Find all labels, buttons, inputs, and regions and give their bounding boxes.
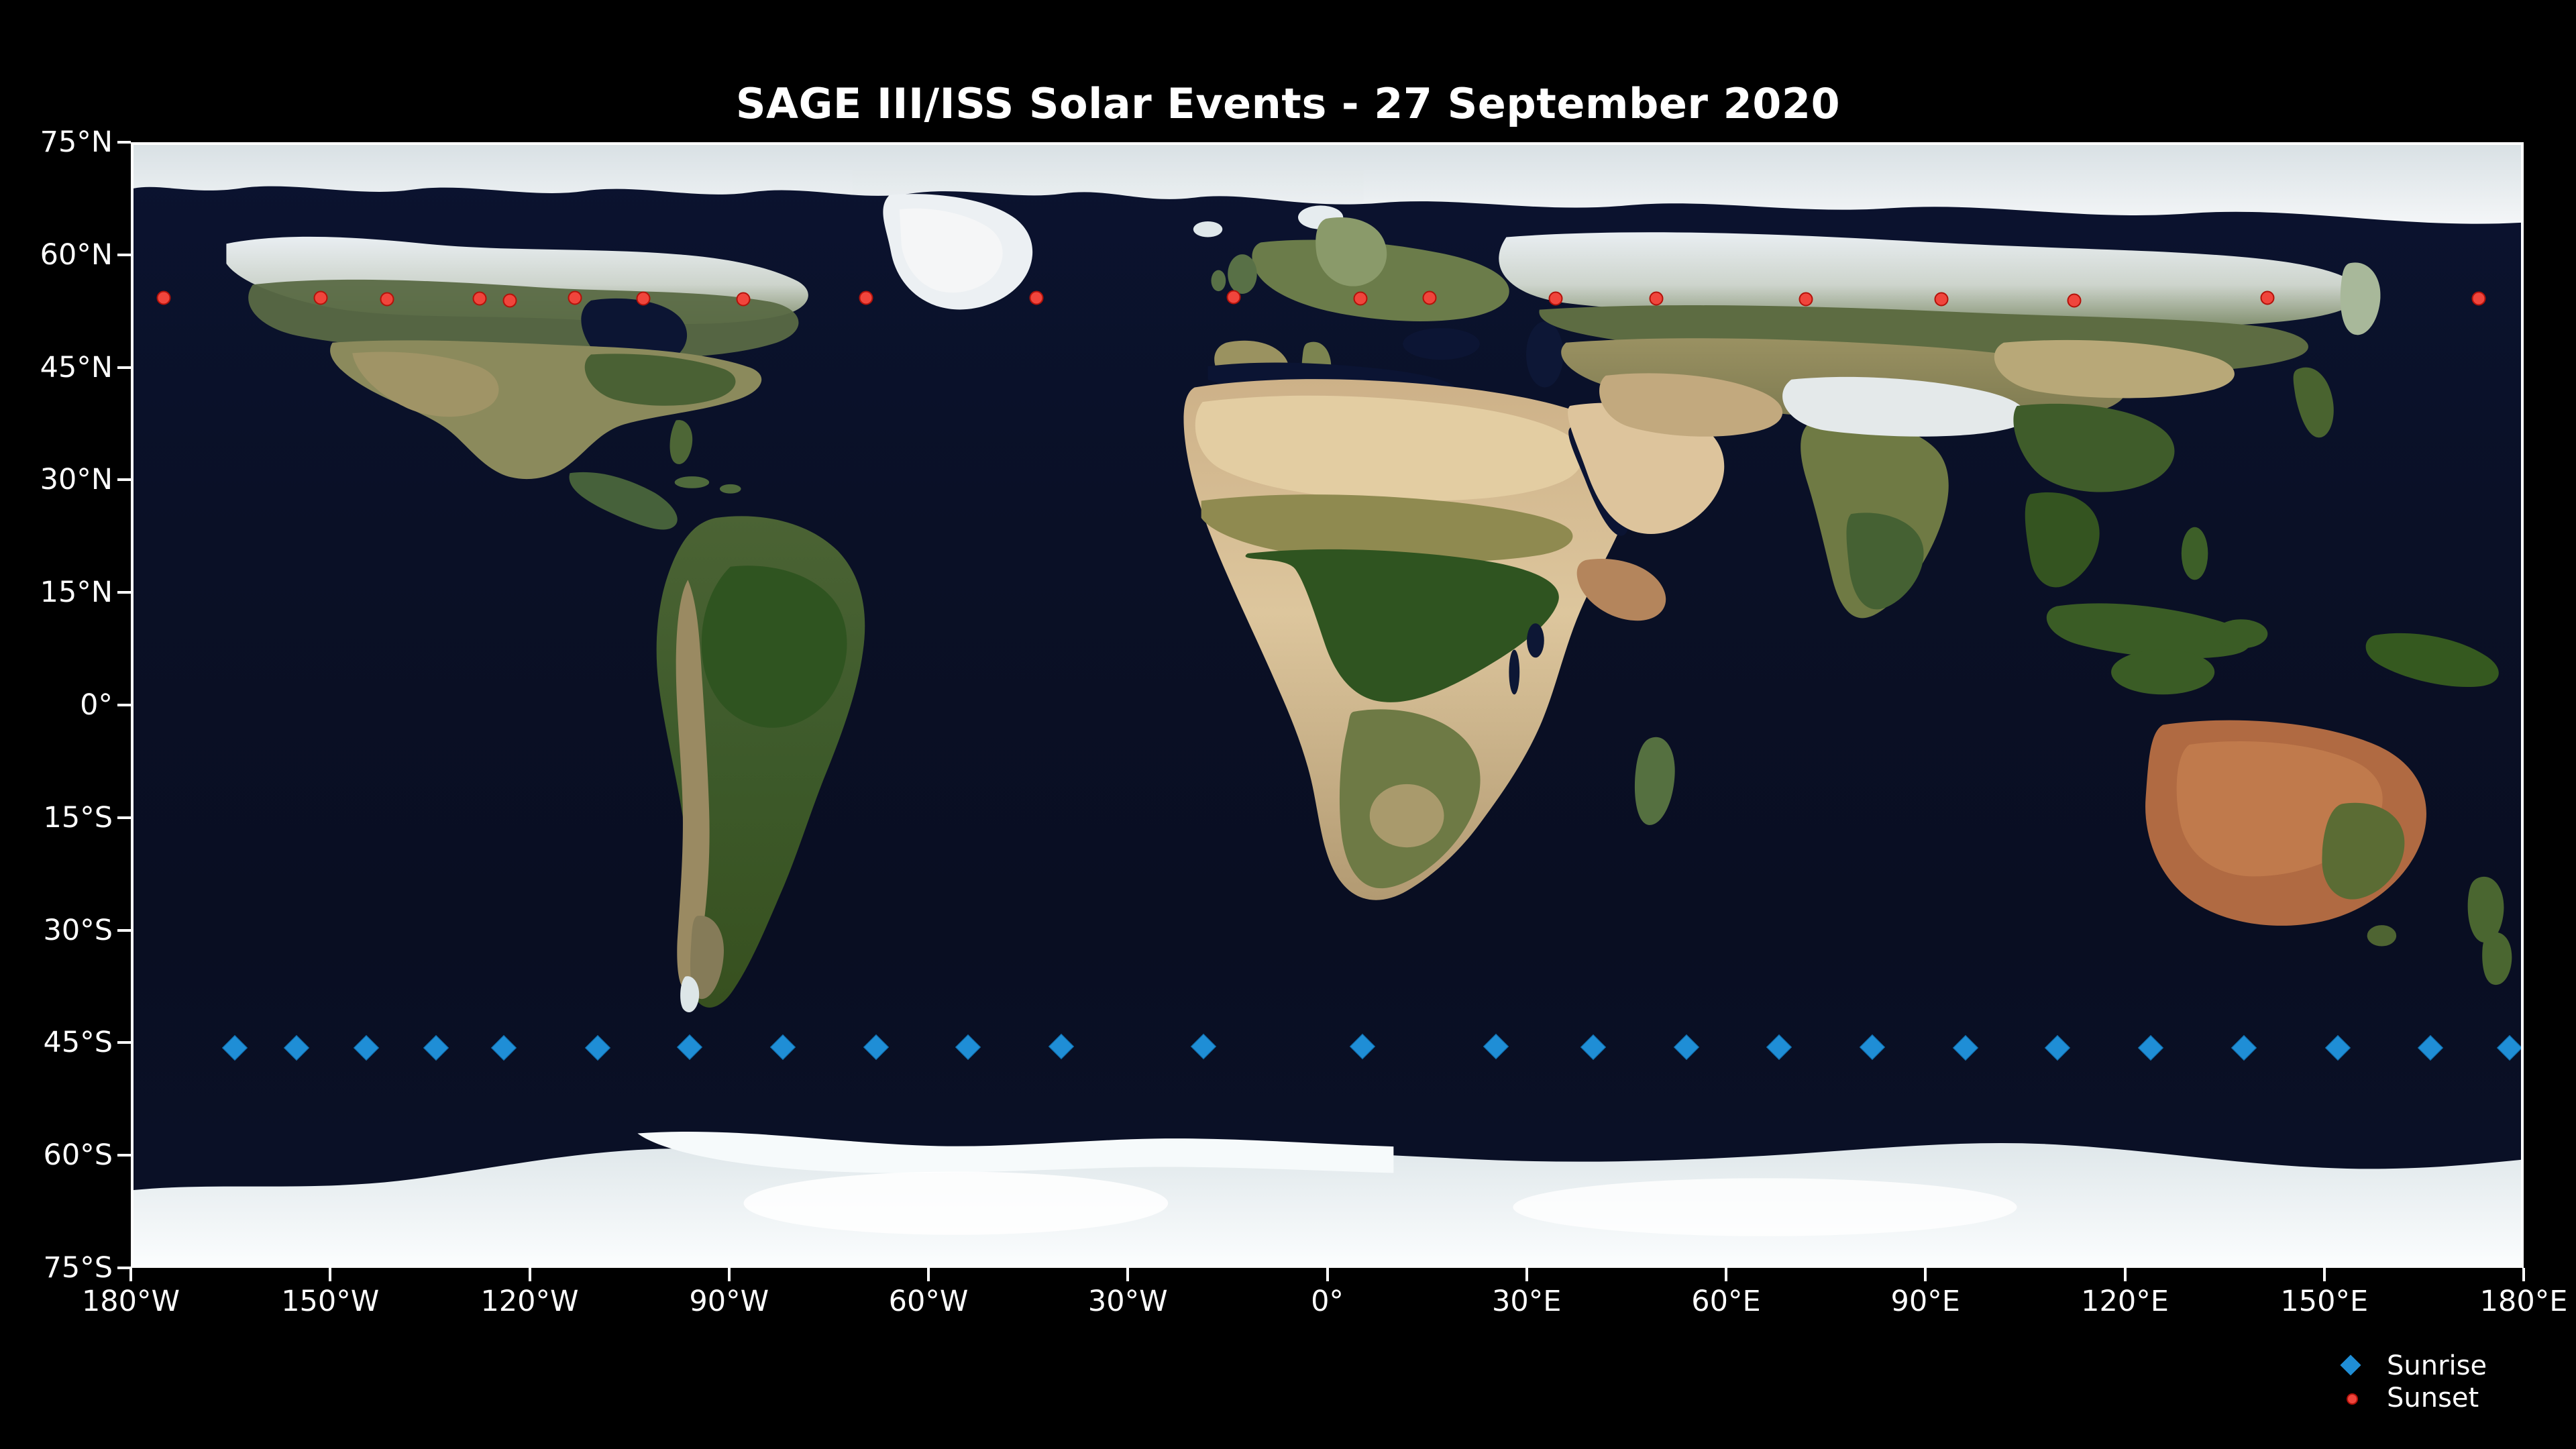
map-legend: Sunrise Sunset xyxy=(2341,1350,2563,1414)
latitude-tick-label: 30°S xyxy=(43,914,113,947)
latitude-tick-mark xyxy=(117,816,131,819)
longitude-tick-mark xyxy=(529,1268,531,1281)
legend-item-sunrise[interactable]: Sunrise xyxy=(2341,1350,2563,1382)
longitude-tick-label: 60°E xyxy=(1691,1285,1760,1318)
legend-item-sunset[interactable]: Sunset xyxy=(2341,1382,2563,1414)
sunrise-marker-icon xyxy=(2341,1356,2361,1376)
latitude-tick-label: 15°S xyxy=(43,801,113,835)
longitude-tick-label: 180°E xyxy=(2480,1285,2568,1318)
page-title: SAGE III/ISS Solar Events - 27 September… xyxy=(0,79,2576,128)
latitude-tick-label: 45°N xyxy=(40,351,113,384)
longitude-tick-label: 30°E xyxy=(1492,1285,1561,1318)
longitude-tick-mark xyxy=(1126,1268,1129,1281)
longitude-tick-mark xyxy=(329,1268,331,1281)
longitude-tick-mark xyxy=(728,1268,731,1281)
longitude-tick-label: 60°W xyxy=(889,1285,969,1318)
legend-label-sunset: Sunset xyxy=(2387,1383,2479,1413)
blue-marble-basemap-icon xyxy=(133,145,2521,1265)
sunset-marker-icon xyxy=(2341,1388,2361,1408)
longitude-tick-label: 120°W xyxy=(480,1285,578,1318)
latitude-tick-mark xyxy=(117,141,131,144)
latitude-tick-label: 15°N xyxy=(40,576,113,609)
longitude-tick-mark xyxy=(1326,1268,1329,1281)
longitude-tick-label: 180°W xyxy=(82,1285,180,1318)
latitude-tick-mark xyxy=(117,1041,131,1044)
legend-label-sunrise: Sunrise xyxy=(2387,1350,2487,1381)
latitude-tick-label: 0° xyxy=(80,688,113,722)
latitude-tick-mark xyxy=(117,929,131,932)
longitude-tick-label: 30°W xyxy=(1088,1285,1168,1318)
longitude-tick-label: 150°W xyxy=(281,1285,379,1318)
longitude-tick-mark xyxy=(2522,1268,2525,1281)
longitude-tick-label: 150°E xyxy=(2280,1285,2368,1318)
latitude-tick-mark xyxy=(117,1154,131,1157)
latitude-tick-label: 60°S xyxy=(43,1138,113,1172)
latitude-tick-mark xyxy=(117,591,131,594)
longitude-tick-label: 90°E xyxy=(1891,1285,1960,1318)
latitude-tick-mark xyxy=(117,704,131,706)
map-plot-area xyxy=(131,142,2524,1268)
longitude-tick-mark xyxy=(2124,1268,2127,1281)
latitude-tick-mark xyxy=(117,1267,131,1269)
longitude-tick-mark xyxy=(1725,1268,1727,1281)
latitude-tick-mark xyxy=(117,254,131,256)
latitude-tick-label: 75°S xyxy=(43,1251,113,1285)
latitude-tick-label: 60°N xyxy=(40,238,113,272)
latitude-tick-label: 45°S xyxy=(43,1026,113,1059)
longitude-tick-label: 0° xyxy=(1311,1285,1344,1318)
latitude-tick-label: 30°N xyxy=(40,463,113,496)
latitude-tick-mark xyxy=(117,478,131,481)
longitude-tick-mark xyxy=(2323,1268,2326,1281)
longitude-tick-mark xyxy=(129,1268,132,1281)
longitude-tick-label: 120°E xyxy=(2081,1285,2169,1318)
longitude-tick-mark xyxy=(927,1268,930,1281)
longitude-tick-mark xyxy=(1525,1268,1528,1281)
basemap-surface xyxy=(133,145,2521,1265)
longitude-tick-label: 90°W xyxy=(689,1285,769,1318)
latitude-tick-label: 75°N xyxy=(40,125,113,159)
longitude-tick-mark xyxy=(1924,1268,1927,1281)
latitude-tick-mark xyxy=(117,366,131,369)
